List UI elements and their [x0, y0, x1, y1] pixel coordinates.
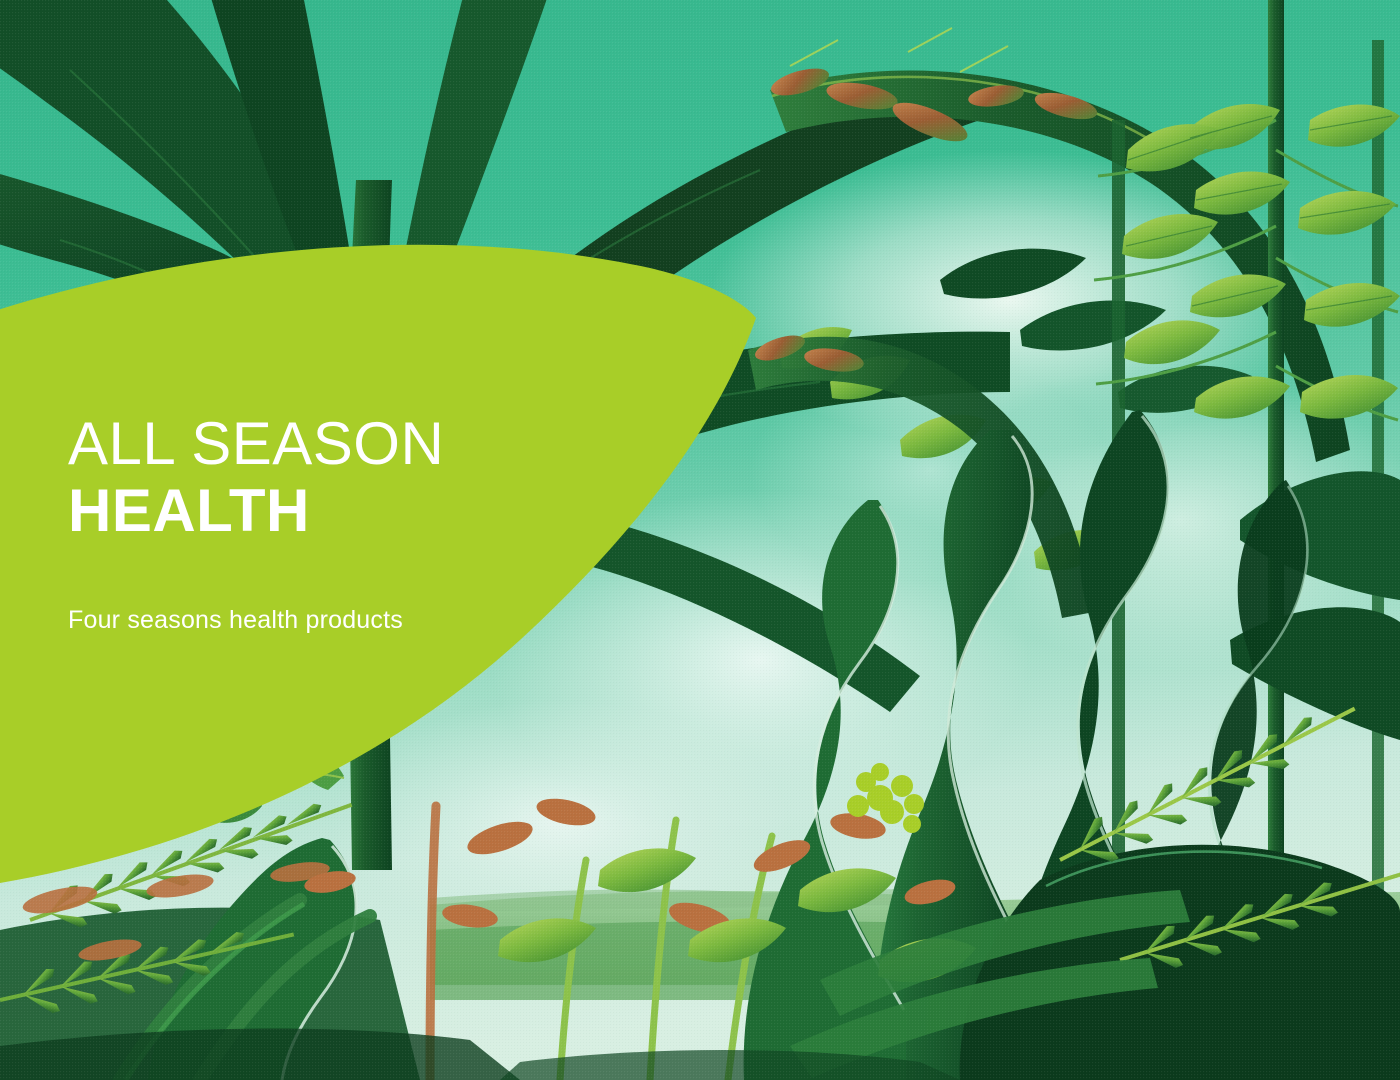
poster-title-line-1: ALL SEASON [68, 412, 588, 477]
title-block: ALL SEASON HEALTH Four seasons health pr… [68, 412, 588, 635]
poster-subtitle: Four seasons health products [68, 544, 588, 635]
poster-canvas: ALL SEASON HEALTH Four seasons health pr… [0, 0, 1400, 1080]
poster-title-line-2: HEALTH [68, 477, 588, 544]
